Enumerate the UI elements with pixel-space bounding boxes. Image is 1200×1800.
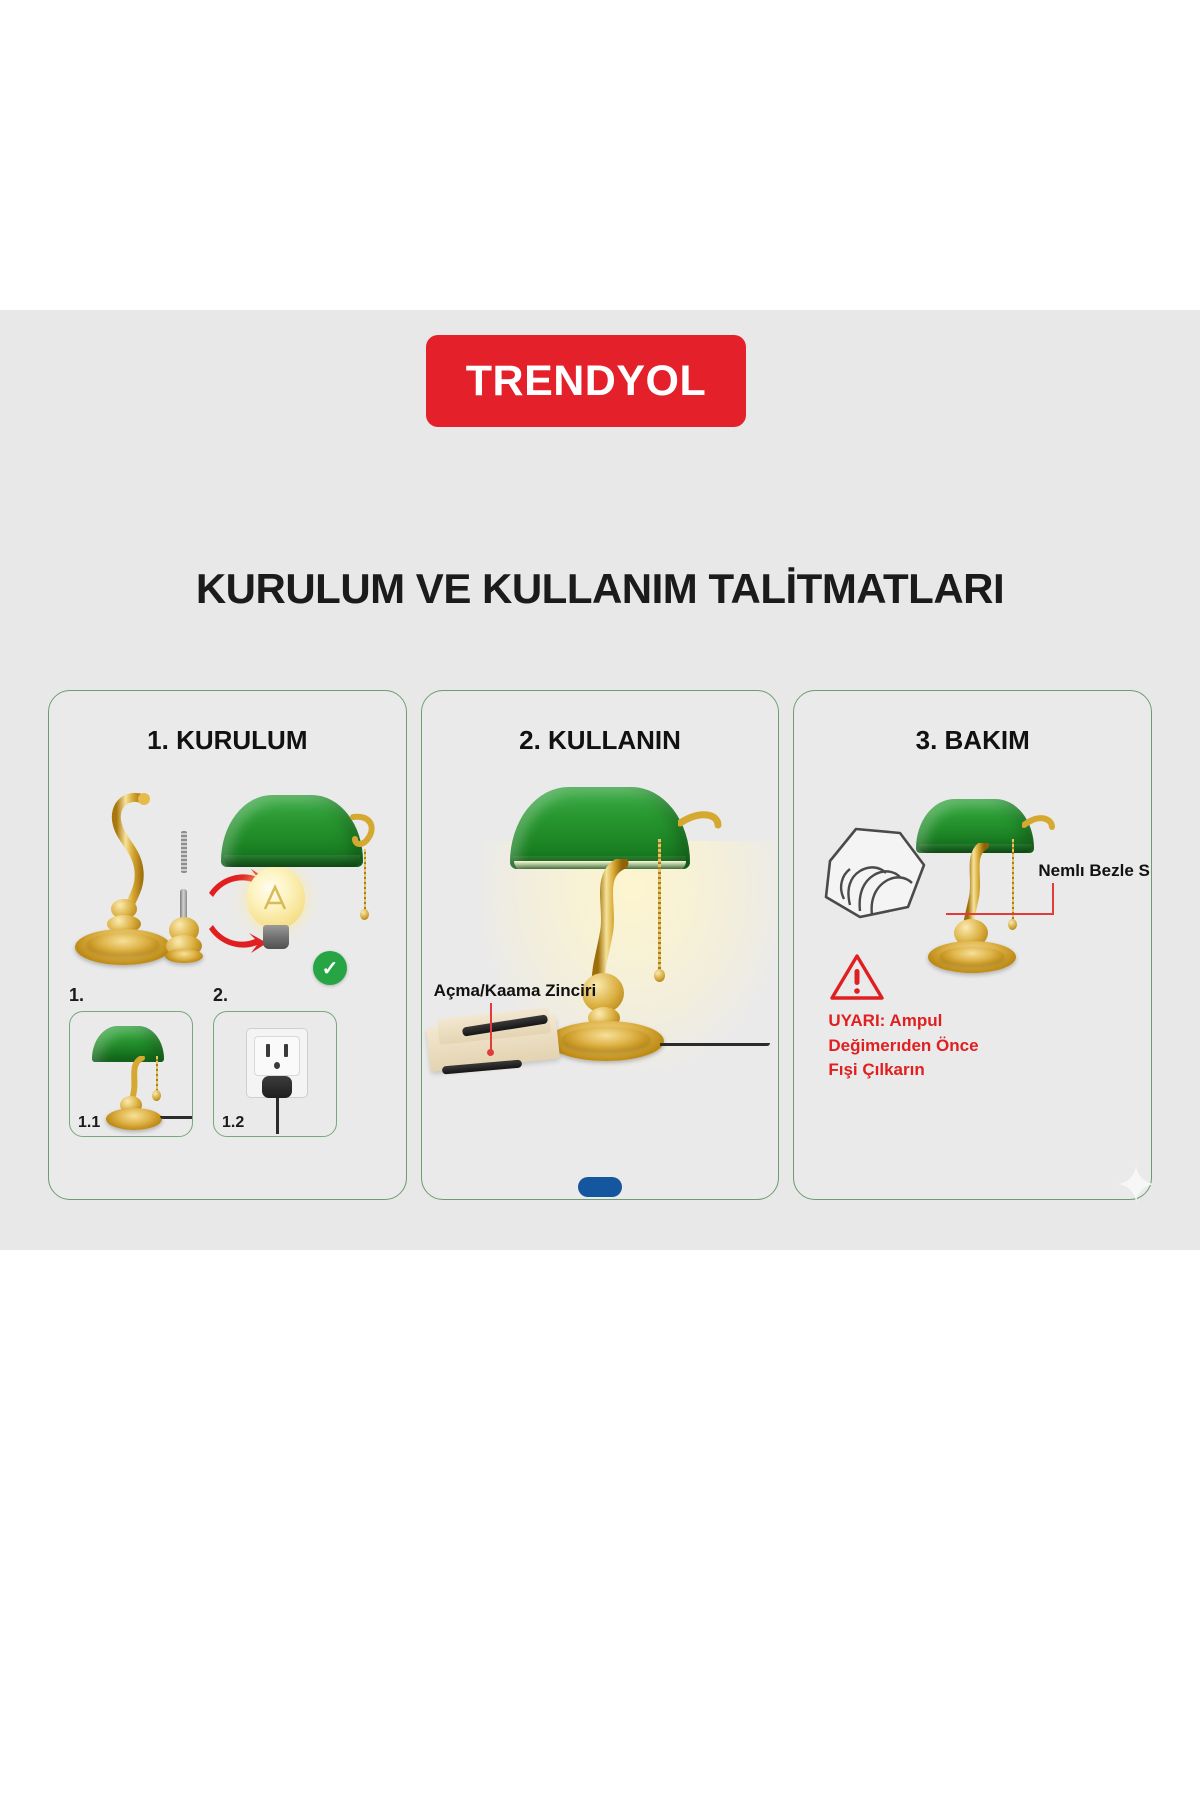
plug-cord-icon [276, 1098, 279, 1134]
power-plug-icon [262, 1076, 292, 1098]
pull-chain-icon [658, 839, 661, 971]
lamp-base-ring [87, 933, 159, 955]
substep-label-1-1: 1.1 [78, 1114, 100, 1132]
callout-leader-line [490, 1003, 492, 1053]
product-instruction-image: TRENDYOL KURULUM VE KULLANIM TALİTMATLAR… [0, 0, 1200, 1800]
socket-slot-right [284, 1044, 288, 1057]
socket-face [254, 1036, 300, 1076]
pull-chain-ball-icon [360, 909, 369, 920]
check-icon: ✓ [322, 956, 339, 981]
substep-box-1-1: 1.1 [69, 1011, 193, 1137]
page-indicator[interactable] [578, 1177, 622, 1197]
warning-text: UYARI: Ampul Değimerıden Önce Fışi Çılka… [828, 1009, 978, 1083]
green-shade-icon [510, 787, 690, 869]
mini-pull-chain-icon [156, 1056, 158, 1092]
callout-leader-line-v [1052, 883, 1054, 915]
bulb-filament-icon [259, 881, 293, 919]
callout-pull-chain: Açma/Kaama Zinciri [434, 981, 597, 1001]
mini-base-icon [106, 1108, 162, 1130]
power-cord-icon [660, 1043, 770, 1046]
substep-label-1-2: 1.2 [222, 1114, 244, 1132]
step-card-kurulum: 1. KURULUM [48, 690, 407, 1200]
callout-wipe-with-damp-cloth: Nemlı Bezle Silin [1038, 861, 1152, 881]
sparkle-icon: ✦ [1110, 1160, 1162, 1212]
assembly-arrow-down-icon [207, 923, 269, 957]
bulb-screw-cap-icon [263, 925, 289, 949]
logo-text: TRENDYOL [466, 357, 707, 406]
shade-lip [224, 855, 360, 867]
lamp-base-ring [562, 1027, 650, 1051]
lamp-base-ring [940, 947, 1004, 965]
kullanin-illustration: Açma/Kaama Zinciri [422, 691, 779, 1199]
socket-slot-left [266, 1044, 270, 1057]
green-shade-icon [221, 795, 363, 867]
shade-hook-icon [1022, 809, 1056, 843]
pull-chain-icon [1012, 839, 1014, 921]
screw-icon [181, 831, 187, 873]
steps-row: 1. KURULUM [48, 690, 1152, 1200]
socket-ground-hole [274, 1062, 280, 1069]
bakim-illustration: Nemlı Bezle Silin UYARI: Ampul Değimerıd… [794, 691, 1151, 1199]
step-card-kullanin: 2. KULLANIN [421, 690, 780, 1200]
substep-number-2: 2. [213, 985, 228, 1006]
check-badge: ✓ [313, 951, 347, 985]
pull-chain-ball-icon [654, 969, 665, 982]
finial-foot [165, 949, 203, 963]
warning-triangle-icon [830, 953, 884, 1001]
hand-with-cloth-icon [816, 821, 936, 933]
callout-leader-dot [487, 1049, 494, 1056]
instruction-board: TRENDYOL KURULUM VE KULLANIM TALİTMATLAR… [0, 310, 1200, 1250]
kurulum-illustration: ✓ 1. 2. [49, 691, 406, 1199]
substep-box-1-2: 1.2 [213, 1011, 337, 1137]
shade-hook-icon [678, 803, 724, 845]
step-card-bakim: 3. BAKIM [793, 690, 1152, 1200]
trendyol-logo: TRENDYOL [426, 335, 746, 427]
pull-chain-ball-icon [1008, 919, 1017, 930]
callout-leader-line-h [946, 913, 1054, 915]
substep-number-1: 1. [69, 985, 84, 1006]
mini-chain-ball-icon [152, 1090, 161, 1101]
mini-cord-icon [160, 1116, 193, 1119]
page-title: KURULUM VE KULLANIM TALİTMATLARI [0, 565, 1200, 613]
lamp-arm-icon [562, 859, 652, 989]
pull-chain-icon [364, 849, 366, 911]
